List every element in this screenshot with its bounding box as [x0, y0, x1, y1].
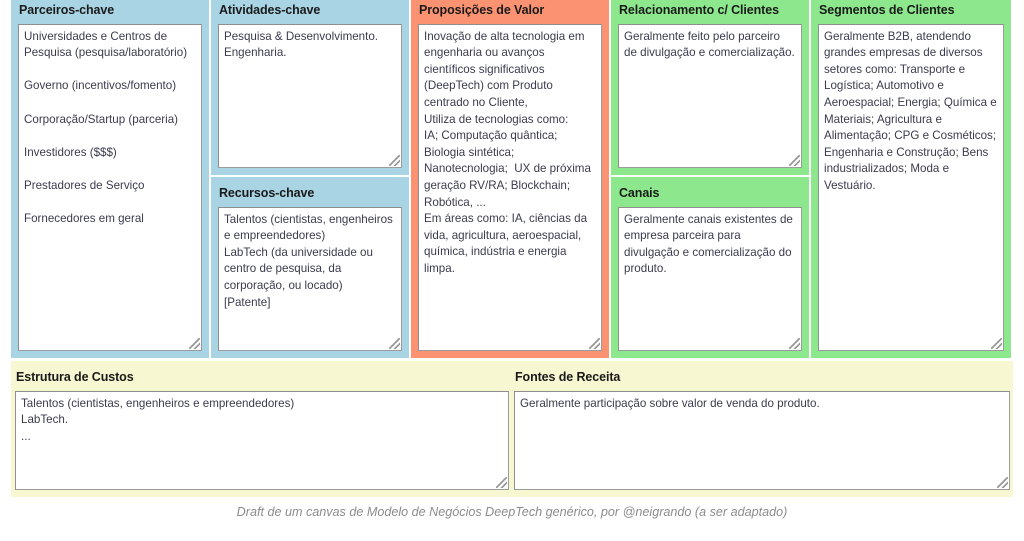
block-customer-segments: Segmentos de Clientes Geralmente B2B, at… [811, 0, 1011, 358]
key-activities-note[interactable]: Pesquisa & Desenvolvimento. Engenharia. [218, 24, 402, 168]
channels-title: Canais [619, 186, 802, 202]
block-key-partners: Parceiros-chave Universidades e Centros … [11, 0, 209, 358]
key-activities-title: Atividades-chave [219, 3, 402, 19]
block-revenue-streams: Fontes de Receita Geralmente participaçã… [512, 367, 1013, 490]
block-customer-relationships: Relacionamento c/ Clientes Geralmente fe… [611, 0, 809, 175]
column-key-partners: Parceiros-chave Universidades e Centros … [11, 0, 209, 358]
business-model-canvas: Parceiros-chave Universidades e Centros … [0, 0, 1024, 541]
key-resources-title: Recursos-chave [219, 186, 402, 202]
column-value-propositions: Proposições de Valor Inovação de alta te… [411, 0, 609, 358]
key-partners-note[interactable]: Universidades e Centros de Pesquisa (pes… [18, 24, 202, 351]
customer-relationships-title: Relacionamento c/ Clientes [619, 3, 802, 19]
key-resources-note[interactable]: Talentos (cientistas, engenheiros e empr… [218, 207, 402, 351]
column-key-activities-resources: Atividades-chave Pesquisa & Desenvolvime… [211, 0, 409, 358]
revenue-streams-title: Fontes de Receita [515, 370, 1010, 386]
block-key-activities: Atividades-chave Pesquisa & Desenvolvime… [211, 0, 409, 175]
customer-relationships-note[interactable]: Geralmente feito pelo parceiro de divulg… [618, 24, 802, 168]
column-customer-segments: Segmentos de Clientes Geralmente B2B, at… [811, 0, 1011, 358]
canvas-top-grid: Parceiros-chave Universidades e Centros … [11, 0, 1013, 358]
block-key-resources: Recursos-chave Talentos (cientistas, eng… [211, 177, 409, 358]
value-propositions-note[interactable]: Inovação de alta tecnologia em engenhari… [418, 24, 602, 351]
block-channels: Canais Geralmente canais existentes de e… [611, 177, 809, 358]
customer-segments-title: Segmentos de Clientes [819, 3, 1004, 19]
channels-note[interactable]: Geralmente canais existentes de empresa … [618, 207, 802, 351]
revenue-streams-note[interactable]: Geralmente participação sobre valor de v… [514, 391, 1010, 490]
canvas-caption: Draft de um canvas de Modelo de Negócios… [0, 505, 1024, 519]
key-partners-title: Parceiros-chave [19, 3, 202, 19]
cost-structure-title: Estrutura de Custos [16, 370, 509, 386]
cost-structure-note[interactable]: Talentos (cientistas, engenheiros e empr… [15, 391, 509, 490]
canvas-bottom-band: Estrutura de Custos Talentos (cientistas… [11, 361, 1013, 497]
block-cost-structure: Estrutura de Custos Talentos (cientistas… [11, 367, 512, 490]
customer-segments-note[interactable]: Geralmente B2B, atendendo grandes empres… [818, 24, 1004, 351]
column-relationships-channels: Relacionamento c/ Clientes Geralmente fe… [611, 0, 809, 358]
block-value-propositions: Proposições de Valor Inovação de alta te… [411, 0, 609, 358]
value-propositions-title: Proposições de Valor [419, 3, 602, 19]
